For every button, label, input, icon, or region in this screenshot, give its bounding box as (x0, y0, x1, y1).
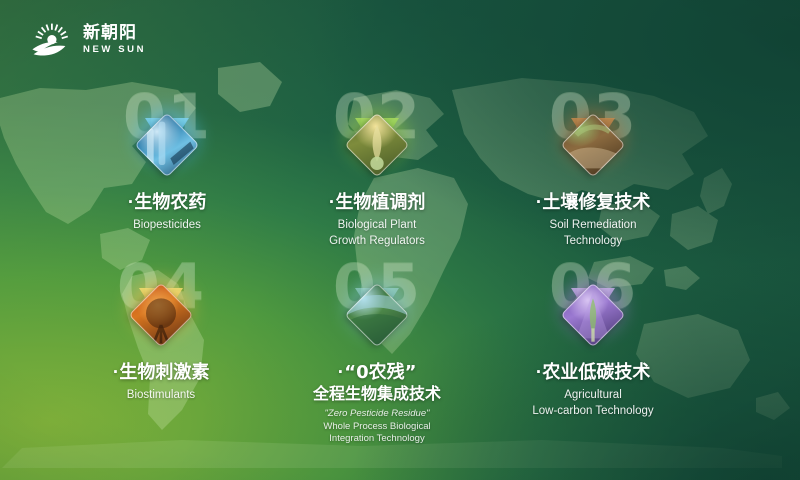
soil-hand-diamond-icon (562, 118, 624, 180)
tech-item-03-icon-area: 03 (478, 92, 708, 188)
test-tube-lab-diamond-icon (136, 118, 198, 180)
slide-canvas: 新朝阳 NEW SUN 01 (0, 0, 800, 480)
tech-item-01-title-en: Biopesticides (52, 218, 282, 234)
tech-item-06-icon-area: 06 (478, 262, 708, 358)
tech-item-02-title-en: Biological Plant Growth Regulators (262, 218, 492, 250)
root-ball-diamond-icon (130, 288, 192, 350)
seedling-sprout-diamond-icon (346, 118, 408, 180)
tech-item-02-title-en-line1: Biological Plant (262, 218, 492, 234)
tech-item-06-title-cn: ·农业低碳技术 (478, 362, 708, 384)
plant-cone-diamond-icon (562, 288, 624, 350)
tech-item-02-title-cn-text: 生物植调剂 (335, 192, 425, 213)
tech-item-05-icon-area: 05 (262, 262, 492, 358)
tech-item-06-title-en-line2: Low-carbon Technology (478, 404, 708, 420)
tea-field-diamond-icon (346, 288, 408, 350)
technology-grid: 01 (0, 0, 800, 480)
tech-item-01-icon-area: 01 (52, 92, 282, 188)
tech-item-03-labels: ·土壤修复技术 Soil Remediation Technology (478, 188, 708, 250)
tech-item-04-title-en: Biostimulants (46, 388, 276, 404)
tech-item-06-title-cn-text: 农业低碳技术 (542, 362, 650, 383)
tech-item-06[interactable]: 06 (478, 262, 708, 420)
tech-item-01-labels: ·生物农药 Biopesticides (52, 188, 282, 234)
tech-item-05-title-en: "Zero Pesticide Residue" Whole Process B… (262, 408, 492, 446)
tech-item-01-title-cn-text: 生物农药 (134, 192, 206, 213)
tech-item-05-title-cn-text: “0农残” (344, 362, 416, 383)
tech-item-06-title-en-line1: Agricultural (478, 388, 708, 404)
tech-item-02-title-en-line2: Growth Regulators (262, 234, 492, 250)
tech-item-04-icon-area: 04 (46, 262, 276, 358)
tech-item-02-icon-area: 02 (262, 92, 492, 188)
tech-item-04-title-cn: ·生物刺激素 (46, 362, 276, 384)
tech-item-06-title-en: Agricultural Low-carbon Technology (478, 388, 708, 420)
tech-item-01-title-cn: ·生物农药 (52, 192, 282, 214)
tech-item-02-title-cn: ·生物植调剂 (262, 192, 492, 214)
tech-item-02[interactable]: 02 ·生物植调剂 (262, 92, 492, 250)
tech-item-04-title-cn-text: 生物刺激素 (119, 362, 209, 383)
tech-item-03[interactable]: 03 ·土壤修复技术 (478, 92, 708, 250)
tech-item-03-title-en: Soil Remediation Technology (478, 218, 708, 250)
tech-item-04-labels: ·生物刺激素 Biostimulants (46, 358, 276, 404)
tech-item-01[interactable]: 01 (52, 92, 282, 234)
tech-item-03-title-en-line2: Technology (478, 234, 708, 250)
tech-item-04[interactable]: 04 ·生物刺激素 B (46, 262, 276, 404)
tech-item-05-title-en-line1: "Zero Pesticide Residue" (262, 408, 492, 421)
tech-item-06-labels: ·农业低碳技术 Agricultural Low-carbon Technolo… (478, 358, 708, 420)
tech-item-03-title-cn-text: 土壤修复技术 (542, 192, 650, 213)
tech-item-02-labels: ·生物植调剂 Biological Plant Growth Regulator… (262, 188, 492, 250)
tech-item-03-title-cn: ·土壤修复技术 (478, 192, 708, 214)
tech-item-05[interactable]: 05 ·“0农残” 全 (262, 262, 492, 446)
tech-item-05-title-en-line2: Whole Process Biological (262, 421, 492, 434)
tech-item-05-title-cn: ·“0农残” (262, 362, 492, 384)
tech-item-05-title-cn2: 全程生物集成技术 (262, 384, 492, 404)
tech-item-05-title-en-line3: Integration Technology (262, 433, 492, 446)
tech-item-05-labels: ·“0农残” 全程生物集成技术 "Zero Pesticide Residue"… (262, 358, 492, 446)
tech-item-03-title-en-line1: Soil Remediation (478, 218, 708, 234)
